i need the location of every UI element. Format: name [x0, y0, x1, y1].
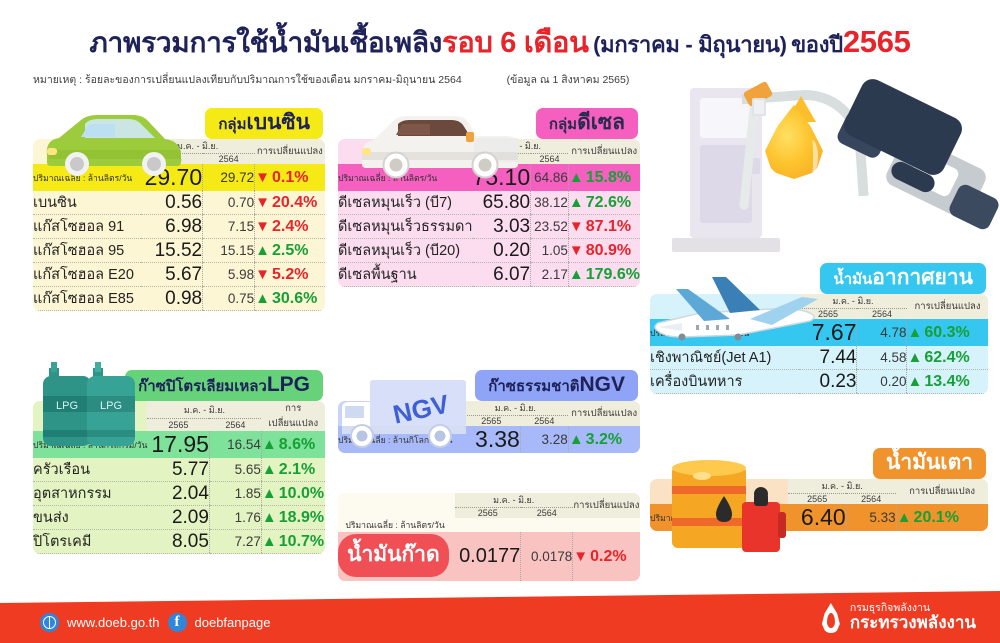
- agency-ministry: กระทรวงพลังงาน: [850, 614, 976, 632]
- row-label: แก๊สโซฮอล E20: [33, 263, 141, 287]
- row-change: ▼87.1%: [568, 215, 640, 239]
- row-value-previous: 38.12: [531, 191, 569, 215]
- year-previous-header: 2564: [203, 154, 255, 165]
- table-row: ดีเซลพื้นฐาน6.072.17▲179.6%: [338, 263, 640, 287]
- change-arrow-icon: ▲: [907, 373, 922, 390]
- benzine-total-change: ▼0.1%: [255, 164, 325, 191]
- facebook-icon[interactable]: f: [168, 613, 187, 632]
- row-value-current: 0.56: [141, 191, 203, 215]
- change-arrow-icon: ▲: [897, 509, 912, 526]
- row-value-current: 2.04: [147, 482, 209, 506]
- diesel-title-badge: กลุ่มดีเซล: [536, 108, 638, 139]
- period-header: ม.ค. - มิ.ย.: [788, 479, 896, 494]
- change-percent: 0.2%: [590, 548, 626, 565]
- table-row: ดีเซลหมุนเร็ว (บี7)65.8038.12▲72.6%: [338, 191, 640, 215]
- page-note: หมายเหตุ : ร้อยละของการเปลี่ยนแปลงเทียบก…: [0, 71, 1000, 88]
- table-row: แก๊สโซฮอล 916.987.15▼2.4%: [33, 215, 325, 239]
- diesel-card: กลุ่มดีเซล ม.ค. - มิ.ย. การเปลี่ยนแปลง 2…: [338, 108, 640, 287]
- row-change: ▲2.1%: [261, 458, 325, 482]
- change-percent: 60.3%: [924, 324, 969, 341]
- row-change: ▲13.4%: [907, 370, 988, 394]
- website-link[interactable]: www.doeb.go.th: [67, 615, 160, 630]
- row-value-previous: 4.58: [857, 346, 907, 370]
- kerosene-unit-label: ปริมาณเฉลี่ย : ล้านลิตร/วัน: [338, 518, 455, 532]
- change-percent: 10.0%: [279, 485, 324, 502]
- row-value-previous: 1.85: [209, 482, 261, 506]
- row-change: ▲30.6%: [255, 287, 325, 311]
- change-percent: 15.8%: [586, 169, 631, 186]
- row-value-previous: 5.98: [203, 263, 255, 287]
- title-part-period: รอบ 6 เดือน: [442, 27, 589, 59]
- row-value-current: 15.52: [141, 239, 203, 263]
- change-percent: 2.4%: [272, 218, 308, 235]
- table-row: แก๊สโซฮอล E850.980.75▲30.6%: [33, 287, 325, 311]
- diesel-rows: ดีเซลหมุนเร็ว (บี7)65.8038.12▲72.6%ดีเซล…: [338, 191, 640, 287]
- change-percent: 3.2%: [586, 431, 622, 448]
- period-header: ม.ค. - มิ.ย.: [455, 493, 573, 508]
- lpg-total-change: ▲8.6%: [261, 431, 325, 458]
- row-value-previous: 7.27: [209, 530, 261, 554]
- change-arrow-icon: ▲: [569, 431, 584, 448]
- change-header: การเปลี่ยนแปลง: [573, 493, 640, 518]
- row-value-current: 0.20: [473, 239, 531, 263]
- gas-pump-base-icon: [672, 238, 780, 252]
- change-header: การเปลี่ยนแปลง: [568, 139, 640, 164]
- ngv-card: NGV ก๊าซธรรมชาติNGV ม.ค. - มิ.ย. การเปลี…: [338, 370, 640, 453]
- change-arrow-icon: ▲: [907, 324, 922, 341]
- globe-icon[interactable]: [40, 613, 59, 632]
- fueloil-badge-big: น้ำมันเตา: [886, 451, 973, 474]
- car-icon: [29, 104, 199, 180]
- lpg-badge-big: LPG: [267, 373, 310, 396]
- title-part-ofyear: ของปี: [791, 32, 843, 57]
- change-arrow-icon: ▲: [255, 242, 270, 259]
- fuel-nozzle-tail-icon: [947, 182, 1000, 232]
- aviation-badge-big: อากาศยาน: [872, 266, 973, 289]
- change-arrow-icon: ▲: [262, 436, 277, 453]
- fueloil-total-2564: 5.33: [846, 504, 896, 531]
- row-label: ครัวเรือน: [33, 458, 147, 482]
- row-change: ▼5.2%: [255, 263, 325, 287]
- ngv-title-badge: ก๊าซธรรมชาติNGV: [475, 370, 638, 401]
- change-percent: 2.5%: [272, 242, 308, 259]
- year-previous-header: 2564: [520, 416, 568, 427]
- row-value-previous: 1.05: [531, 239, 569, 263]
- change-arrow-icon: ▼: [255, 266, 270, 283]
- fueloil-card: น้ำมันเตา ม.ค. - มิ.ย. การเปลี่ยนแปลง 25…: [650, 448, 988, 531]
- change-arrow-icon: ▼: [573, 548, 588, 565]
- row-value-current: 5.67: [141, 263, 203, 287]
- aviation-total-2564: 4.78: [857, 319, 907, 346]
- row-value-previous: 5.65: [209, 458, 261, 482]
- kerosene-total-2565: 0.0177: [455, 532, 521, 581]
- row-value-current: 2.09: [147, 506, 209, 530]
- row-value-current: 5.77: [147, 458, 209, 482]
- page-header: ภาพรวมการใช้น้ำมันเชื้อเพลิงรอบ 6 เดือน …: [0, 0, 1000, 88]
- change-arrow-icon: ▲: [569, 194, 584, 211]
- change-header: การเปลี่ยนแปลง: [568, 401, 640, 426]
- svg-text:LPG: LPG: [56, 400, 78, 412]
- row-value-current: 0.98: [141, 287, 203, 311]
- fuel-nozzle-trigger-icon: [888, 159, 937, 195]
- footer-links: www.doeb.go.th f doebfanpage: [40, 613, 270, 632]
- change-percent: 5.2%: [272, 266, 308, 283]
- row-label: แก๊สโซฮอล E85: [33, 287, 141, 311]
- pickup-truck-icon: [348, 102, 528, 186]
- small-pump-card-icon: [752, 98, 766, 116]
- change-header: การเปลี่ยนแปลง: [907, 294, 988, 319]
- row-value-previous: 23.52: [531, 215, 569, 239]
- year-current-header: 2565: [455, 508, 521, 519]
- row-label: ดีเซลหมุนเร็วธรรมดา: [338, 215, 473, 239]
- year-previous-header: 2564: [209, 419, 261, 432]
- change-arrow-icon: ▼: [569, 218, 584, 235]
- change-header: การเปลี่ยนแปลง: [896, 479, 988, 504]
- change-percent: 87.1%: [586, 218, 631, 235]
- row-change: ▼80.9%: [568, 239, 640, 263]
- diesel-total-change: ▲15.8%: [568, 164, 640, 191]
- diesel-badge-big: ดีเซล: [577, 111, 625, 134]
- ngv-badge-small: ก๊าซธรรมชาติ: [488, 378, 579, 395]
- aviation-card: น้ำมันอากาศยาน ม.ค. - มิ.ย. การเปลี่ยนแป…: [650, 263, 988, 394]
- period-header: ม.ค. - มิ.ย.: [147, 401, 261, 418]
- row-change: ▼20.4%: [255, 191, 325, 215]
- row-value-current: 6.98: [141, 215, 203, 239]
- table-row: เครื่องบินทหาร0.230.20▲13.4%: [650, 370, 988, 394]
- change-percent: 2.1%: [279, 461, 315, 478]
- row-value-previous: 0.75: [203, 287, 255, 311]
- change-header: การเปลี่ยนแปลง: [261, 401, 325, 431]
- change-percent: 10.7%: [279, 533, 324, 550]
- kerosene-table-panel: ม.ค. - มิ.ย. การเปลี่ยนแปลง 2565 2564 ปร…: [338, 493, 640, 581]
- ngv-truck-icon: NGV: [336, 372, 496, 464]
- kerosene-total-change: ▼0.2%: [573, 532, 640, 581]
- change-percent: 179.6%: [586, 266, 640, 283]
- oil-droplet-icon: [765, 105, 823, 179]
- ngv-total-2564: 3.28: [520, 426, 568, 453]
- row-label: เครื่องบินทหาร: [650, 370, 799, 394]
- oil-droplet-tip-icon: [786, 96, 816, 122]
- benzine-title-badge: กลุ่มเบนซิน: [205, 108, 323, 139]
- row-change: ▲2.5%: [255, 239, 325, 263]
- change-arrow-icon: ▲: [255, 290, 270, 307]
- row-label: ดีเซลพื้นฐาน: [338, 263, 473, 287]
- fuel-nozzle-hole-icon: [908, 152, 961, 198]
- table-row: แก๊สโซฮอล 9515.5215.15▲2.5%: [33, 239, 325, 263]
- gas-pump-screen-icon: [700, 98, 752, 138]
- gas-pump-icon: [690, 88, 762, 238]
- oil-droplet-shine-icon: [806, 140, 818, 174]
- row-value-current: 6.07: [473, 263, 531, 287]
- table-row: ขนส่ง2.091.76▲18.9%: [33, 506, 325, 530]
- kerosene-name-badge: น้ำมันก๊าด: [338, 534, 449, 577]
- change-percent: 20.4%: [272, 194, 317, 211]
- note-data-date: (ข้อมูล ณ 1 สิงหาคม 2565): [507, 71, 630, 88]
- gas-pump-panel-icon: [700, 145, 752, 223]
- change-percent: 18.9%: [279, 509, 324, 526]
- row-change: ▲72.6%: [568, 191, 640, 215]
- row-label: ดีเซลหมุนเร็ว (บี7): [338, 191, 473, 215]
- table-row: ดีเซลหมุนเร็วธรรมดา3.0323.52▼87.1%: [338, 215, 640, 239]
- kerosene-table: ม.ค. - มิ.ย. การเปลี่ยนแปลง 2565 2564 ปร…: [338, 493, 640, 581]
- oil-barrel-icon: [658, 452, 798, 562]
- table-row: ดีเซลหมุนเร็ว (บี20)0.201.05▼80.9%: [338, 239, 640, 263]
- change-percent: 13.4%: [924, 373, 969, 390]
- change-percent: 0.1%: [272, 169, 308, 186]
- table-total-row: น้ำมันก๊าด 0.0177 0.0178 ▼0.2%: [338, 532, 640, 581]
- row-change: ▲10.7%: [261, 530, 325, 554]
- row-change: ▼2.4%: [255, 215, 325, 239]
- change-arrow-icon: ▲: [262, 485, 277, 502]
- change-arrow-icon: ▼: [569, 242, 584, 259]
- flame-logo-icon: [820, 603, 842, 633]
- ngv-badge-big: NGV: [579, 373, 625, 396]
- change-arrow-icon: ▼: [255, 169, 270, 186]
- row-label: ขนส่ง: [33, 506, 147, 530]
- gas-pump-nub-icon: [748, 158, 760, 174]
- title-part-year: 2565: [843, 24, 911, 59]
- table-row: แก๊สโซฮอล E205.675.98▼5.2%: [33, 263, 325, 287]
- change-percent: 72.6%: [586, 194, 631, 211]
- change-percent: 20.1%: [914, 509, 959, 526]
- benzine-rows: เบนซิน0.560.70▼20.4%แก๊สโซฮอล 916.987.15…: [33, 191, 325, 311]
- lpg-card: LPG LPG ก๊าซปิโตรเลียมเหลวLPG ม.ค. - มิ.…: [33, 370, 325, 554]
- fuel-nozzle-grip-icon: [883, 133, 989, 222]
- row-label: ดีเซลหมุนเร็ว (บี20): [338, 239, 473, 263]
- diesel-total-2564: 64.86: [531, 164, 569, 191]
- kerosene-card: ม.ค. - มิ.ย. การเปลี่ยนแปลง 2565 2564 ปร…: [338, 493, 640, 581]
- table-header-row: ม.ค. - มิ.ย. การเปลี่ยนแปลง: [338, 493, 640, 508]
- fuel-hose-line-icon: [739, 95, 760, 210]
- row-label: แก๊สโซฮอล 95: [33, 239, 141, 263]
- aviation-title-badge: น้ำมันอากาศยาน: [820, 263, 986, 294]
- row-value-previous: 1.76: [209, 506, 261, 530]
- change-arrow-icon: ▲: [262, 461, 277, 478]
- agency-name: กรมธุรกิจพลังงาน กระทรวงพลังงาน: [850, 603, 976, 633]
- row-change: ▲10.0%: [261, 482, 325, 506]
- change-percent: 62.4%: [924, 349, 969, 366]
- row-value-previous: 0.70: [203, 191, 255, 215]
- fueloil-total-change: ▲20.1%: [896, 504, 988, 531]
- table-row: อุตสาหกรรม2.041.85▲10.0%: [33, 482, 325, 506]
- row-label: อุตสาหกรรม: [33, 482, 147, 506]
- row-value-previous: 7.15: [203, 215, 255, 239]
- change-percent: 80.9%: [586, 242, 631, 259]
- table-row: เบนซิน0.560.70▼20.4%: [33, 191, 325, 215]
- change-arrow-icon: ▲: [569, 266, 584, 283]
- facebook-link[interactable]: doebfanpage: [195, 615, 271, 630]
- change-percent: 30.6%: [272, 290, 317, 307]
- benzine-badge-big: เบนซิน: [247, 111, 310, 134]
- row-change: ▲62.4%: [907, 346, 988, 370]
- fuel-hose-icon: [741, 86, 868, 204]
- kerosene-total-2564: 0.0178: [521, 532, 573, 581]
- benzine-total-2564: 29.72: [203, 164, 255, 191]
- year-previous-header: 2564: [857, 309, 907, 320]
- row-label: ปิโตรเคมี: [33, 530, 147, 554]
- ngv-total-change: ▲3.2%: [568, 426, 640, 453]
- change-arrow-icon: ▼: [255, 194, 270, 211]
- page-footer: www.doeb.go.th f doebfanpage กรมธุรกิจพล…: [0, 591, 1000, 643]
- change-arrow-icon: ▲: [907, 349, 922, 366]
- title-part-overview: ภาพรวมการใช้น้ำมันเชื้อเพลิง: [89, 27, 442, 58]
- row-value-current: 0.23: [799, 370, 857, 394]
- row-label: เบนซิน: [33, 191, 141, 215]
- agency-branding: กรมธุรกิจพลังงาน กระทรวงพลังงาน: [820, 603, 976, 633]
- row-value-current: 65.80: [473, 191, 531, 215]
- row-change: ▲18.9%: [261, 506, 325, 530]
- note-text: หมายเหตุ : ร้อยละของการเปลี่ยนแปลงเทียบก…: [33, 74, 462, 86]
- svg-text:LPG: LPG: [100, 400, 122, 412]
- page-title: ภาพรวมการใช้น้ำมันเชื้อเพลิงรอบ 6 เดือน …: [0, 0, 1000, 59]
- aviation-total-change: ▲60.3%: [907, 319, 988, 346]
- row-value-previous: 2.17: [531, 263, 569, 287]
- year-previous-header: 2564: [521, 508, 573, 519]
- table-row: ครัวเรือน5.775.65▲2.1%: [33, 458, 325, 482]
- diesel-badge-small: กลุ่ม: [549, 116, 577, 133]
- year-previous-header: 2564: [531, 154, 569, 165]
- change-arrow-icon: ▲: [569, 169, 584, 186]
- row-change: ▲179.6%: [568, 263, 640, 287]
- lpg-cylinder-icon: LPG LPG: [37, 362, 159, 458]
- benzine-badge-small: กลุ่ม: [218, 116, 246, 133]
- lpg-total-2564: 16.54: [209, 431, 261, 458]
- row-label: แก๊สโซฮอล 91: [33, 215, 141, 239]
- fuel-nozzle-neck-icon: [835, 110, 891, 161]
- change-header: การเปลี่ยนแปลง: [255, 139, 325, 164]
- fuel-nozzle-icon: [840, 75, 966, 179]
- year-previous-header: 2564: [846, 494, 896, 505]
- table-row: ปิโตรเคมี8.057.27▲10.7%: [33, 530, 325, 554]
- lpg-rows: ครัวเรือน5.775.65▲2.1%อุตสาหกรรม2.041.85…: [33, 458, 325, 554]
- change-percent: 8.6%: [279, 436, 315, 453]
- airplane-icon: [642, 265, 842, 373]
- row-value-previous: 15.15: [203, 239, 255, 263]
- kerosene-unit-row: ปริมาณเฉลี่ย : ล้านลิตร/วัน: [338, 518, 640, 532]
- change-arrow-icon: ▼: [255, 218, 270, 235]
- change-arrow-icon: ▲: [262, 509, 277, 526]
- row-value-current: 3.03: [473, 215, 531, 239]
- row-value-current: 8.05: [147, 530, 209, 554]
- fueloil-title-badge: น้ำมันเตา: [873, 448, 986, 479]
- row-value-previous: 0.20: [857, 370, 907, 394]
- benzine-card: กลุ่มเบนซิน ม.ค. - มิ.ย. การเปลี่ยนแปลง …: [33, 108, 325, 311]
- title-part-months: (มกราคม - มิถุนายน): [593, 32, 786, 57]
- change-arrow-icon: ▲: [262, 533, 277, 550]
